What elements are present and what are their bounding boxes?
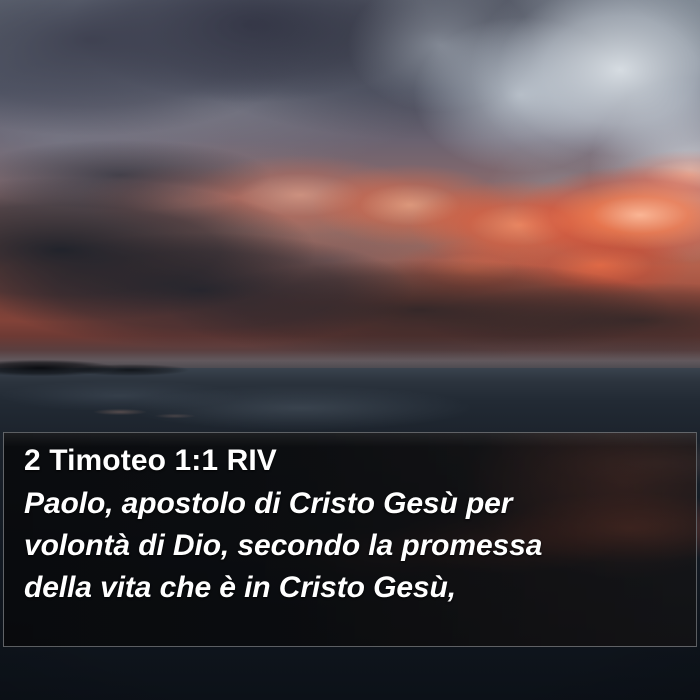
verse-text-line: volontà di Dio, secondo la promessa (24, 525, 676, 567)
shoreline-silhouette (0, 356, 700, 378)
verse-text-line: Paolo, apostolo di Cristo Gesù per (24, 483, 676, 525)
verse-image-card: 2 Timoteo 1:1 RIV Paolo, apostolo di Cri… (0, 0, 700, 700)
verse-text: Paolo, apostolo di Cristo Gesù per volon… (24, 483, 676, 609)
verse-caption-panel: 2 Timoteo 1:1 RIV Paolo, apostolo di Cri… (3, 432, 697, 647)
verse-text-line: della vita che è in Cristo Gesù, (24, 567, 676, 609)
verse-reference: 2 Timoteo 1:1 RIV (24, 443, 676, 479)
